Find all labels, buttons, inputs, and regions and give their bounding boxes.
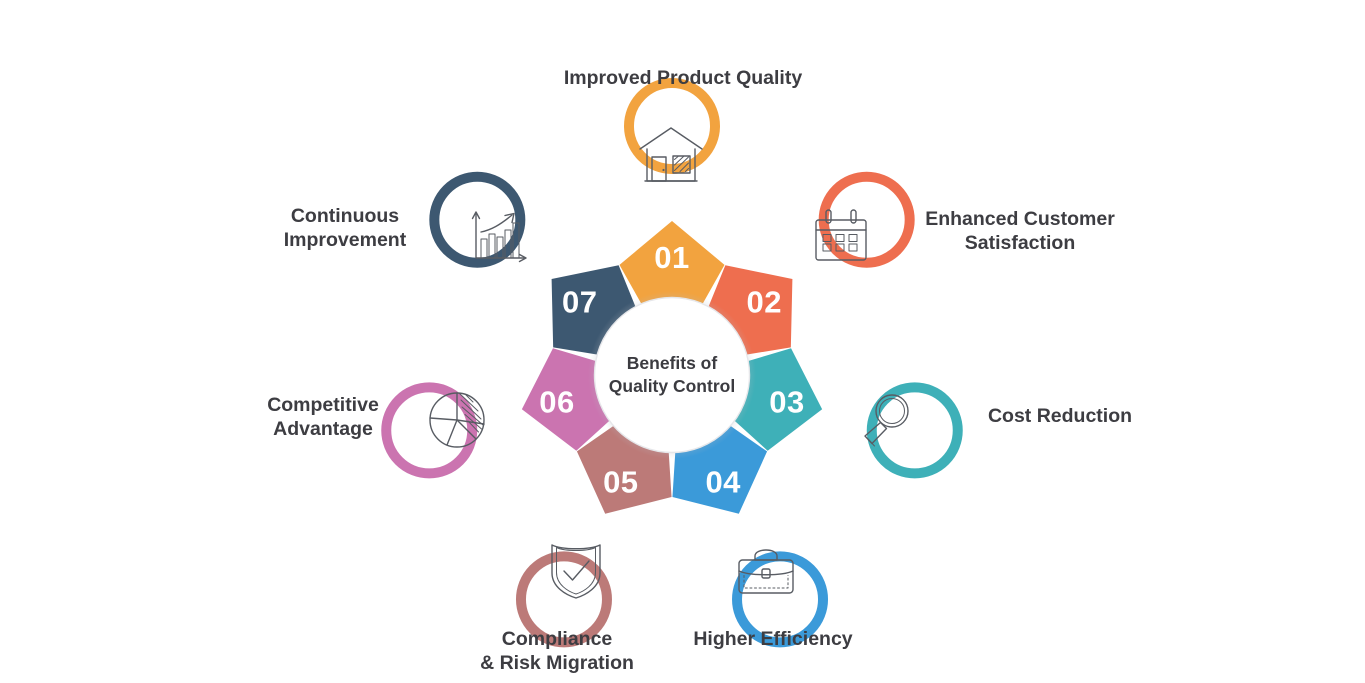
node-label-01: Improved Product Quality — [508, 66, 858, 90]
node-label-06: Competitive Advantage — [203, 393, 443, 442]
petal-number-03: 03 — [769, 384, 804, 419]
node-label-04: Higher Efficiency — [665, 627, 881, 651]
petal-number-02: 02 — [747, 284, 782, 319]
center-circle — [595, 298, 750, 453]
infographic-canvas: Benefits of Quality Control — [0, 0, 1365, 683]
icon-ring-01[interactable] — [629, 83, 715, 169]
petal-number-01: 01 — [654, 240, 689, 275]
radial-benefits-diagram: Benefits of Quality Control — [0, 0, 1365, 683]
petal-number-05: 05 — [603, 464, 638, 499]
icon-ring-07[interactable] — [434, 177, 520, 263]
petal-number-07: 07 — [562, 284, 597, 319]
node-label-07: Continuous Improvement — [245, 204, 445, 253]
node-label-03: Cost Reduction — [945, 404, 1175, 428]
petal-number-04: 04 — [705, 464, 741, 499]
node-label-05: Compliance & Risk Migration — [437, 627, 677, 676]
center-title-line1: Benefits of — [627, 353, 718, 373]
center-title-line2: Quality Control — [609, 376, 735, 396]
node-label-02: Enhanced Customer Satisfaction — [898, 207, 1142, 256]
petal-number-06: 06 — [539, 384, 574, 419]
